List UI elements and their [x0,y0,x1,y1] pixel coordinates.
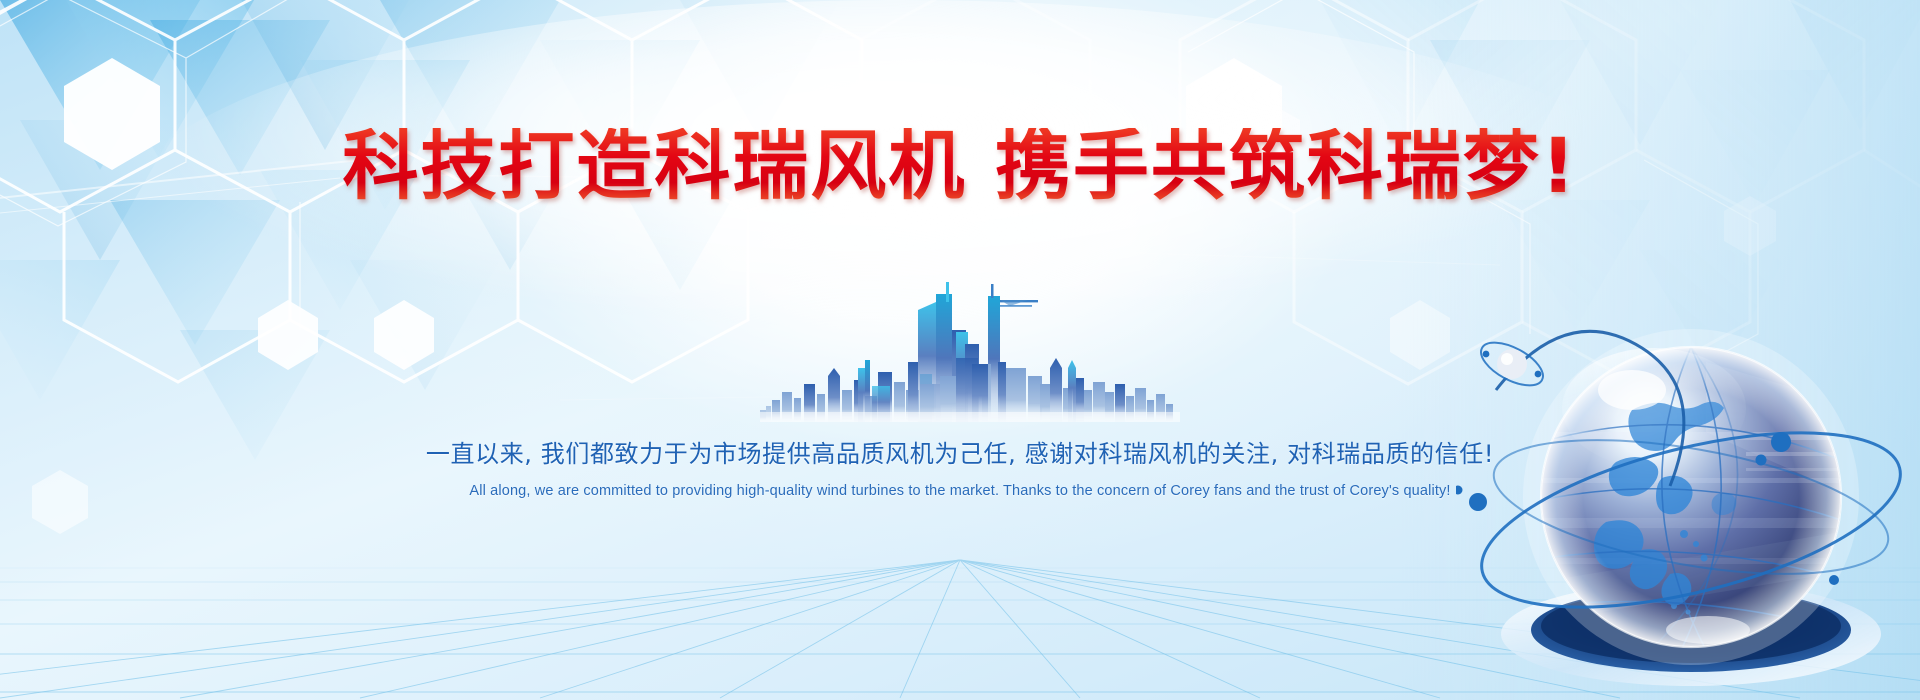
subtitle-english: All along, we are committed to providing… [0,483,1920,499]
subtitle-container: 一直以来, 我们都致力于为市场提供高品质风机为己任, 感谢对科瑞风机的关注, 对… [0,434,1920,499]
hero-banner: 科技打造科瑞风机 携手共筑科瑞梦! [0,0,1920,700]
subtitle-chinese: 一直以来, 我们都致力于为市场提供高品质风机为己任, 感谢对科瑞风机的关注, 对… [0,434,1920,469]
orbit-atom-node [1474,334,1549,394]
page-title: 科技打造科瑞风机 携手共筑科瑞梦! [342,128,1577,204]
headline-container: 科技打造科瑞风机 携手共筑科瑞梦! [0,128,1920,204]
city-skyline-graphic [760,272,1180,422]
skyline-buildings [760,282,1173,422]
